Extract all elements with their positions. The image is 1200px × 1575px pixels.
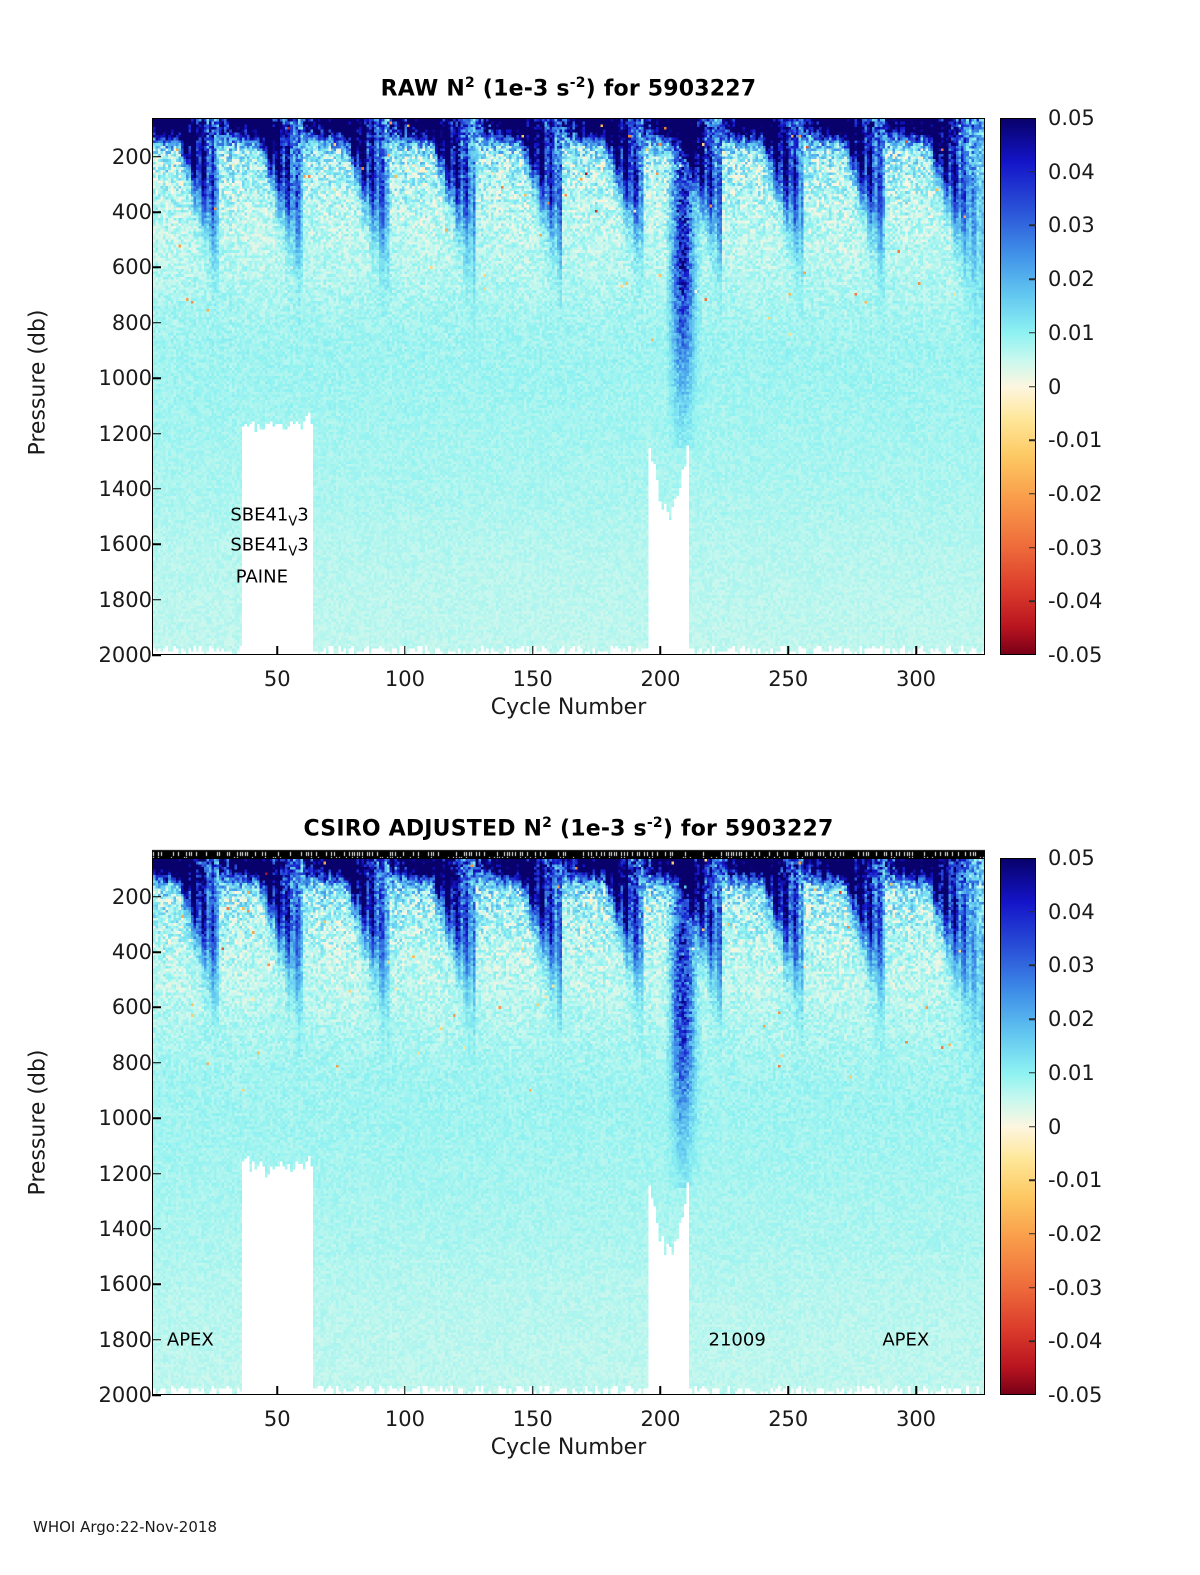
- y-tick-mark: [152, 1284, 161, 1286]
- colorbar-tick-mark: [1029, 493, 1036, 495]
- colorbar-tick-label: -0.03: [1048, 536, 1102, 560]
- colorbar-tick-label: 0: [1048, 1115, 1061, 1139]
- colorbar-tick-mark: [1029, 1018, 1036, 1020]
- plot-title-raw-mid: (1e-3 s: [475, 76, 570, 101]
- colorbar-tick-label: -0.03: [1048, 1276, 1102, 1300]
- plot-title-raw-sup: 2: [465, 75, 475, 91]
- y-tick-mark: [152, 1394, 161, 1396]
- colorbar-tick-mark: [1029, 225, 1036, 227]
- colorbar-tick-label: 0.04: [1048, 160, 1095, 184]
- y-tick-label: 1200: [2, 1162, 161, 1186]
- y-tick-label: 1600: [2, 532, 161, 556]
- colorbar-tick-label: 0.02: [1048, 1007, 1095, 1031]
- colorbar-tick-label: 0.01: [1048, 321, 1095, 345]
- colorbar-tick-label: -0.01: [1048, 428, 1102, 452]
- y-tick-label: 1600: [2, 1272, 161, 1296]
- y-tick-mark: [152, 1062, 161, 1064]
- y-tick-label: 400: [2, 940, 161, 964]
- y-tick-mark: [152, 488, 161, 490]
- y-tick-mark: [152, 211, 161, 213]
- y-tick-label: 2000: [2, 643, 161, 667]
- x-tick-label: 300: [896, 667, 936, 691]
- y-tick-label: 1000: [2, 366, 161, 390]
- colorbar-tick-mark: [1029, 1341, 1036, 1343]
- colorbar-tick-label: 0.01: [1048, 1061, 1095, 1085]
- x-tick-label: 50: [264, 1407, 291, 1431]
- colorbar-tick-label: -0.05: [1048, 1383, 1102, 1407]
- y-tick-mark: [152, 433, 161, 435]
- plot-title-adjusted-text: CSIRO ADJUSTED N: [304, 816, 543, 841]
- y-tick-label: 600: [2, 995, 161, 1019]
- x-tick-mark: [660, 1386, 662, 1395]
- x-tick-label: 200: [640, 667, 680, 691]
- colorbar-tick-mark: [1029, 965, 1036, 967]
- colorbar-tick-mark: [1029, 1233, 1036, 1235]
- colorbar-tick-label: -0.05: [1048, 643, 1102, 667]
- plot-title-raw-text: RAW N: [381, 76, 465, 101]
- panel-raw: RAW N2 (1e-3 s-2) for 5903227 Pressure (…: [0, 0, 1200, 760]
- plot-title-adjusted: CSIRO ADJUSTED N2 (1e-3 s-2) for 5903227: [152, 815, 985, 841]
- x-tick-label: 150: [513, 667, 553, 691]
- x-tick-mark: [787, 1386, 789, 1395]
- x-axis-label-adjusted: Cycle Number: [152, 1435, 985, 1460]
- y-tick-mark: [152, 544, 161, 546]
- colorbar-tick-label: 0.03: [1048, 213, 1095, 237]
- y-tick-label: 1200: [2, 422, 161, 446]
- plot-annotation: APEX: [882, 1329, 929, 1350]
- y-tick-mark: [152, 599, 161, 601]
- y-tick-mark: [152, 267, 161, 269]
- x-axis-label-raw: Cycle Number: [152, 695, 985, 720]
- x-tick-label: 100: [385, 1407, 425, 1431]
- plot-title-raw: RAW N2 (1e-3 s-2) for 5903227: [152, 75, 985, 101]
- heatmap-adjusted: [153, 859, 984, 1394]
- colorbar-tick-mark: [1029, 278, 1036, 280]
- colorbar-tick-mark: [1029, 1287, 1036, 1289]
- colorbar-tick-mark: [1029, 1179, 1036, 1181]
- plot-title-adjusted-mid: (1e-3 s: [552, 816, 647, 841]
- y-tick-label: 600: [2, 255, 161, 279]
- plot-title-adjusted-sup: 2: [542, 815, 552, 831]
- colorbar-tick-mark: [1029, 1126, 1036, 1128]
- y-tick-label: 1800: [2, 588, 161, 612]
- x-tick-mark: [532, 646, 534, 655]
- x-tick-mark: [404, 646, 406, 655]
- y-tick-mark: [152, 377, 161, 379]
- y-tick-mark: [152, 896, 161, 898]
- x-tick-mark: [787, 646, 789, 655]
- plot-annotation: 21009: [709, 1329, 766, 1350]
- colorbar-tick-label: -0.02: [1048, 1222, 1102, 1246]
- panel-adjusted: CSIRO ADJUSTED N2 (1e-3 s-2) for 5903227…: [0, 740, 1200, 1500]
- x-tick-label: 100: [385, 667, 425, 691]
- y-tick-mark: [152, 1007, 161, 1009]
- colorbar-tick-mark: [1029, 439, 1036, 441]
- heatmap-axes-adjusted[interactable]: [152, 858, 985, 1395]
- plot-title-adjusted-suffix: ) for 5903227: [663, 816, 834, 841]
- colorbar-tick-label: 0.03: [1048, 953, 1095, 977]
- y-tick-mark: [152, 1173, 161, 1175]
- colorbar-tick-label: 0: [1048, 375, 1061, 399]
- colorbar-tick-label: -0.04: [1048, 589, 1102, 613]
- x-tick-label: 250: [768, 1407, 808, 1431]
- y-tick-label: 800: [2, 311, 161, 335]
- colorbar-tick-mark: [1029, 386, 1036, 388]
- plot-annotation: PAINE: [236, 567, 288, 588]
- colorbar-tick-label: 0.02: [1048, 267, 1095, 291]
- y-tick-label: 1000: [2, 1106, 161, 1130]
- y-tick-mark: [152, 1339, 161, 1341]
- colorbar-tick-mark: [1029, 911, 1036, 913]
- colorbar-tick-label: 0.05: [1048, 846, 1095, 870]
- x-tick-mark: [532, 1386, 534, 1395]
- y-tick-mark: [152, 322, 161, 324]
- y-tick-mark: [152, 951, 161, 953]
- colorbar-tick-label: -0.02: [1048, 482, 1102, 506]
- colorbar-tick-label: -0.01: [1048, 1168, 1102, 1192]
- x-tick-label: 250: [768, 667, 808, 691]
- x-tick-mark: [915, 646, 917, 655]
- y-tick-mark: [152, 1117, 161, 1119]
- x-tick-label: 150: [513, 1407, 553, 1431]
- plot-title-raw-suffix: ) for 5903227: [586, 76, 757, 101]
- plot-title-adjusted-sup2: -2: [647, 815, 663, 831]
- plot-annotation: SBE41V3: [230, 535, 308, 560]
- colorbar-tick-label: 0.04: [1048, 900, 1095, 924]
- colorbar-tick-label: -0.04: [1048, 1329, 1102, 1353]
- y-tick-label: 800: [2, 1051, 161, 1075]
- colorbar-tick-mark: [1029, 601, 1036, 603]
- colorbar-tick-mark: [1029, 547, 1036, 549]
- colorbar-tick-mark: [1029, 171, 1036, 173]
- y-tick-label: 1400: [2, 477, 161, 501]
- colorbar-tick-mark: [1029, 332, 1036, 334]
- y-tick-mark: [152, 654, 161, 656]
- y-tick-mark: [152, 1228, 161, 1230]
- x-tick-mark: [915, 1386, 917, 1395]
- plot-annotation: SBE41V3: [230, 504, 308, 529]
- colorbar-tick-label: 0.05: [1048, 106, 1095, 130]
- y-tick-mark: [152, 156, 161, 158]
- y-tick-label: 400: [2, 200, 161, 224]
- x-tick-mark: [276, 646, 278, 655]
- x-tick-mark: [660, 646, 662, 655]
- x-tick-label: 300: [896, 1407, 936, 1431]
- x-tick-label: 200: [640, 1407, 680, 1431]
- plot-title-raw-sup2: -2: [570, 75, 586, 91]
- footer-credit: WHOI Argo:22-Nov-2018: [33, 1518, 217, 1536]
- x-tick-label: 50: [264, 667, 291, 691]
- plot-annotation: APEX: [167, 1329, 214, 1350]
- x-tick-mark: [276, 1386, 278, 1395]
- x-tick-mark: [404, 1386, 406, 1395]
- y-tick-label: 2000: [2, 1383, 161, 1407]
- y-tick-label: 200: [2, 885, 161, 909]
- colorbar-tick-mark: [1029, 1072, 1036, 1074]
- y-tick-label: 1400: [2, 1217, 161, 1241]
- y-tick-label: 1800: [2, 1328, 161, 1352]
- y-tick-label: 200: [2, 145, 161, 169]
